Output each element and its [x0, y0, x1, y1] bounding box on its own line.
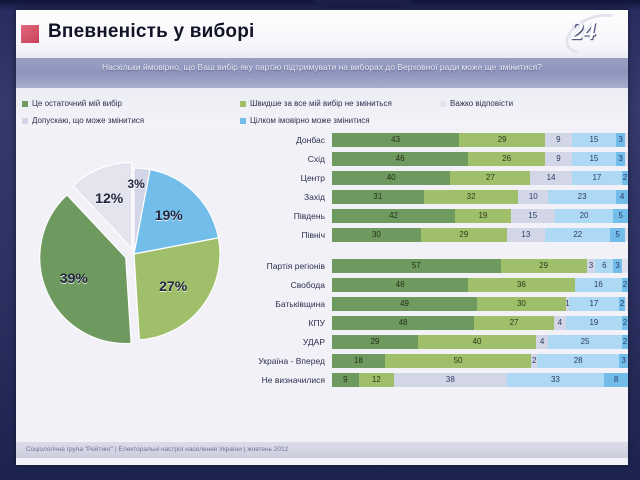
bar-segment: 29	[332, 335, 418, 349]
bar-segment: 14	[530, 171, 571, 185]
bar-segment: 5	[610, 228, 625, 242]
stacked-bar: 421915205	[332, 209, 628, 223]
bar-segment: 19	[566, 316, 622, 330]
bar-segment-value: 46	[396, 154, 405, 163]
bar-segment-value: 13	[521, 230, 530, 239]
bar-segment-value: 2	[623, 318, 627, 327]
bar-segment: 29	[459, 133, 545, 147]
bar-segment-value: 26	[502, 154, 511, 163]
bar-segment: 40	[332, 171, 450, 185]
bar-segment: 15	[572, 152, 616, 166]
bar-segment: 16	[575, 278, 622, 292]
bar-segment: 32	[424, 190, 519, 204]
bar-segment: 3	[587, 259, 596, 273]
stacked-bar: 91238338	[332, 373, 628, 387]
bar-segment-value: 3	[615, 261, 619, 270]
bar-segment-value: 30	[372, 230, 381, 239]
bar-chart-row: Північ302913225	[244, 227, 628, 242]
bar-segment: 25	[548, 335, 622, 349]
bar-segment-value: 2	[623, 173, 627, 182]
slide-header: Впевненість у виборі 24	[16, 10, 628, 58]
monitor-bezel-shadow	[305, 0, 420, 8]
bar-row-label: КПУ	[244, 318, 332, 328]
bar-row-label: Південь	[244, 211, 332, 221]
bar-segment-value: 19	[589, 318, 598, 327]
bar-segment-value: 8	[614, 375, 618, 384]
legend-label: Важко відповісти	[450, 99, 513, 108]
legend-swatch-icon	[240, 101, 246, 107]
pie-slice-label: 3%	[127, 177, 144, 191]
bar-segment: 46	[332, 278, 468, 292]
bar-segment: 30	[332, 228, 421, 242]
legend-label: Допускаю, що може змінитися	[32, 116, 144, 125]
bar-segment-value: 38	[446, 375, 455, 384]
bar-segment: 23	[548, 190, 616, 204]
bar-segment-value: 10	[529, 192, 538, 201]
bar-segment-value: 49	[400, 299, 409, 308]
bar-segment: 12	[359, 373, 395, 387]
bar-segment-value: 15	[589, 154, 598, 163]
source-footer: Соціологічна група "Рейтинг" | Електорал…	[16, 442, 628, 458]
bar-segment: 18	[332, 354, 385, 368]
bar-segment: 29	[421, 228, 507, 242]
bar-segment: 10	[518, 190, 548, 204]
bar-segment-value: 2	[532, 356, 536, 365]
bar-segment-value: 30	[517, 299, 526, 308]
pie-slice-label: 12%	[95, 190, 123, 206]
bar-row-label: УДАР	[244, 337, 332, 347]
legend-item-4: Цілком імовірно може змінитися	[240, 116, 440, 125]
regions-bar-chart: Донбас43299153Схід46269153Центр402714172…	[244, 132, 628, 246]
bar-segment-value: 15	[528, 211, 537, 220]
bar-segment-value: 12	[372, 375, 381, 384]
bar-segment-value: 23	[578, 192, 587, 201]
bar-segment: 33	[507, 373, 605, 387]
bar-segment-value: 3	[618, 154, 622, 163]
bar-segment-value: 29	[539, 261, 548, 270]
channel-24-logo: 24	[564, 12, 620, 56]
bar-segment: 22	[545, 228, 610, 242]
pie-slice-label: 39%	[60, 270, 88, 286]
bar-segment-value: 2	[623, 280, 627, 289]
bar-segment-value: 40	[387, 173, 396, 182]
bar-segment-value: 29	[498, 135, 507, 144]
bar-segment-value: 15	[589, 135, 598, 144]
bar-row-label: Не визначилися	[244, 375, 332, 385]
bar-segment-value: 20	[580, 211, 589, 220]
bar-segment: 8	[604, 373, 628, 387]
pie-slice-label: 27%	[159, 278, 187, 294]
bar-segment-value: 5	[615, 230, 619, 239]
bar-chart-row: УДАР29404252	[244, 334, 628, 349]
bar-row-label: Батьківщина	[244, 299, 332, 309]
bar-segment: 2	[622, 171, 628, 185]
bar-charts-area: Донбас43299153Схід46269153Центр402714172…	[244, 128, 628, 458]
bar-segment: 3	[616, 152, 625, 166]
pie-chart: 3%19%27%39%12%	[22, 136, 242, 386]
bar-segment-value: 31	[373, 192, 382, 201]
bar-segment-value: 27	[486, 173, 495, 182]
bar-segment: 15	[572, 133, 616, 147]
bar-segment: 4	[554, 316, 566, 330]
bar-row-label: Центр	[244, 173, 332, 183]
bar-segment-value: 2	[623, 337, 627, 346]
bar-segment-value: 33	[551, 375, 560, 384]
legend-item-3: Допускаю, що може змінитися	[22, 116, 240, 125]
bar-segment-value: 50	[454, 356, 463, 365]
legend-swatch-icon	[240, 118, 246, 124]
bar-segment: 9	[545, 152, 572, 166]
stacked-bar: 402714172	[332, 171, 628, 185]
bar-segment-value: 4	[540, 337, 544, 346]
bar-chart-row: Партія регіонів5729363	[244, 258, 628, 273]
bar-segment-value: 17	[589, 299, 598, 308]
bar-segment-value: 14	[547, 173, 556, 182]
stacked-bar: 4636162	[332, 278, 628, 292]
bar-segment-value: 29	[370, 337, 379, 346]
page-title: Впевненість у виборі	[48, 21, 255, 43]
legend-swatch-icon	[22, 118, 28, 124]
bar-chart-row: Схід46269153	[244, 151, 628, 166]
legend-row-2: Допускаю, що може змінитися Цілком імові…	[22, 112, 628, 129]
bar-segment-value: 6	[602, 261, 606, 270]
bar-segment-value: 28	[574, 356, 583, 365]
bar-row-label: Схід	[244, 154, 332, 164]
bar-segment: 2	[622, 278, 628, 292]
bar-segment: 13	[507, 228, 545, 242]
legend-label: Цілком імовірно може змінитися	[250, 116, 370, 125]
stacked-bar: 43299153	[332, 133, 628, 147]
bar-segment-value: 18	[354, 356, 363, 365]
bar-chart-row: КПУ48274192	[244, 315, 628, 330]
bar-segment: 38	[394, 373, 506, 387]
stacked-bar: 313210234	[332, 190, 628, 204]
legend-item-2: Важко відповісти	[440, 99, 513, 108]
bar-segment-value: 29	[459, 230, 468, 239]
bar-segment: 28	[537, 354, 619, 368]
logo-number: 24	[571, 18, 596, 46]
bar-segment: 2	[619, 297, 625, 311]
bar-segment-value: 3	[621, 356, 625, 365]
bar-segment-value: 3	[589, 261, 593, 270]
bar-chart-row: Центр402714172	[244, 170, 628, 185]
bar-segment: 17	[572, 171, 622, 185]
bar-segment-value: 9	[343, 375, 347, 384]
bar-segment: 57	[332, 259, 501, 273]
bar-segment: 36	[468, 278, 575, 292]
bar-row-label: Північ	[244, 230, 332, 240]
bar-segment: 4	[536, 335, 548, 349]
stacked-bar: 46269153	[332, 152, 628, 166]
bar-segment: 20	[555, 209, 614, 223]
stacked-bar: 48274192	[332, 316, 628, 330]
bar-segment-value: 48	[399, 318, 408, 327]
legend-swatch-icon	[440, 101, 446, 107]
bar-segment: 15	[511, 209, 555, 223]
legend-row-1: Це остаточний мій вибір Швидше за все мі…	[22, 95, 628, 112]
bar-chart-row: Україна - Вперед18502283	[244, 353, 628, 368]
bar-segment-value: 3	[618, 135, 622, 144]
accent-square-icon	[21, 25, 39, 43]
bar-segment: 17	[569, 297, 619, 311]
bar-chart-row: Донбас43299153	[244, 132, 628, 147]
parties-bar-chart: Партія регіонів5729363Свобода4636162Бать…	[244, 258, 628, 391]
presentation-slide: Впевненість у виборі 24 Наскільки ймовір…	[16, 10, 628, 465]
bar-segment: 48	[332, 316, 474, 330]
bar-segment: 49	[332, 297, 477, 311]
bar-chart-row: Свобода4636162	[244, 277, 628, 292]
bar-segment: 2	[622, 316, 628, 330]
bar-segment: 46	[332, 152, 468, 166]
bar-segment-value: 27	[510, 318, 519, 327]
bar-chart-row: Захід313210234	[244, 189, 628, 204]
bar-segment-value: 42	[389, 211, 398, 220]
bar-segment: 3	[616, 133, 625, 147]
pie-chart-svg	[22, 136, 242, 386]
bar-segment-value: 4	[558, 318, 562, 327]
bar-segment: 42	[332, 209, 455, 223]
legend-swatch-icon	[22, 101, 28, 107]
bar-segment-value: 46	[396, 280, 405, 289]
legend-label: Це остаточний мій вибір	[32, 99, 122, 108]
bar-segment: 5	[613, 209, 628, 223]
bar-segment: 31	[332, 190, 424, 204]
legend-item-1: Швидше за все мій вибір не зміниться	[240, 99, 440, 108]
bar-segment: 19	[455, 209, 511, 223]
bar-segment: 27	[474, 316, 554, 330]
chart-legend: Це остаточний мій вибір Швидше за все мі…	[16, 88, 628, 128]
stacked-bar: 29404252	[332, 335, 628, 349]
bar-segment-value: 2	[620, 299, 624, 308]
bar-segment-value: 36	[517, 280, 526, 289]
bar-row-label: Партія регіонів	[244, 261, 332, 271]
bar-segment: 2	[622, 335, 628, 349]
bar-segment: 30	[477, 297, 566, 311]
bar-segment-value: 17	[592, 173, 601, 182]
bar-row-label: Україна - Вперед	[244, 356, 332, 366]
bar-segment: 26	[468, 152, 545, 166]
bar-segment: 9	[332, 373, 359, 387]
bar-segment-value: 9	[556, 135, 560, 144]
bar-segment-value: 9	[556, 154, 560, 163]
bar-segment-value: 5	[618, 211, 622, 220]
bar-segment: 43	[332, 133, 459, 147]
bar-row-label: Захід	[244, 192, 332, 202]
stacked-bar: 5729363	[332, 259, 628, 273]
bar-segment: 29	[501, 259, 587, 273]
bar-chart-row: Південь421915205	[244, 208, 628, 223]
stacked-bar: 49301172	[332, 297, 628, 311]
pie-slice-label: 19%	[155, 207, 183, 223]
bar-segment: 27	[450, 171, 530, 185]
bar-chart-row: Не визначилися91238338	[244, 372, 628, 387]
bar-segment-value: 40	[473, 337, 482, 346]
bar-segment-value: 4	[620, 192, 624, 201]
bar-segment-value: 25	[581, 337, 590, 346]
bar-segment-value: 22	[573, 230, 582, 239]
bar-chart-row: Батьківщина49301172	[244, 296, 628, 311]
bar-row-label: Донбас	[244, 135, 332, 145]
bar-segment-value: 43	[391, 135, 400, 144]
bar-segment-value: 19	[478, 211, 487, 220]
bar-segment-value: 16	[594, 280, 603, 289]
legend-item-0: Це остаточний мій вибір	[22, 99, 240, 108]
bar-segment: 6	[595, 259, 613, 273]
bar-segment-value: 57	[412, 261, 421, 270]
question-banner: Наскільки ймовірно, що Ваш вибір яку пар…	[16, 58, 628, 88]
bar-segment: 4	[616, 190, 628, 204]
stacked-bar: 18502283	[332, 354, 628, 368]
stacked-bar: 302913225	[332, 228, 628, 242]
bar-segment: 40	[418, 335, 536, 349]
bar-segment: 3	[613, 259, 622, 273]
bar-segment: 3	[619, 354, 628, 368]
slide-body: 3%19%27%39%12% Донбас43299153Схід4626915…	[16, 128, 628, 458]
legend-label: Швидше за все мій вибір не зміниться	[250, 99, 392, 108]
bar-segment: 50	[385, 354, 532, 368]
bar-row-label: Свобода	[244, 280, 332, 290]
bar-segment: 9	[545, 133, 572, 147]
bar-segment-value: 32	[467, 192, 476, 201]
